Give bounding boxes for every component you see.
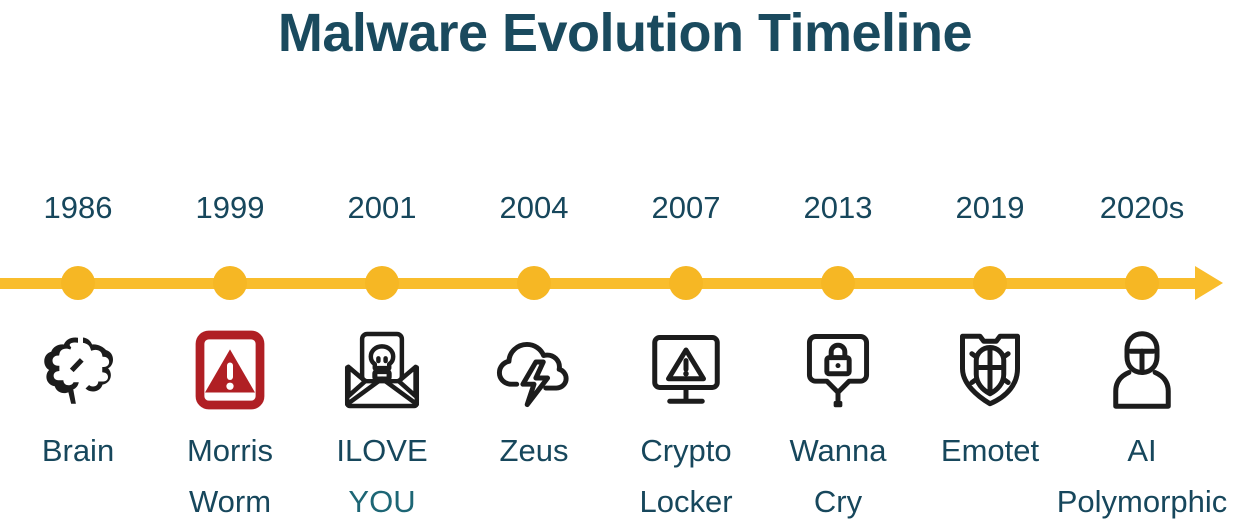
milestone-year: 2019 [914, 190, 1066, 226]
milestone-year: 2007 [610, 190, 762, 226]
timeline-milestone-morris-worm[interactable]: 1999 Morris Worm [154, 0, 306, 532]
milestone-label-line1: Brain [42, 433, 114, 468]
timeline-dot[interactable] [1125, 266, 1159, 300]
milestone-label-line1: Wanna [789, 433, 886, 468]
milestone-label: AI Polymorphic [1042, 425, 1242, 527]
milestone-label: Wanna Cry [750, 425, 926, 527]
timeline-milestone-wannacry[interactable]: 2013 Wanna Cry [762, 0, 914, 532]
milestone-year: 1999 [154, 190, 306, 226]
milestone-label-line2: Worm [142, 476, 318, 527]
timeline-dot[interactable] [821, 266, 855, 300]
milestone-label-line1: Crypto [640, 433, 731, 468]
timeline-dot[interactable] [517, 266, 551, 300]
hooded-person-icon [1100, 328, 1184, 412]
milestone-label: Zeus [446, 425, 622, 476]
timeline-milestone-cryptolocker[interactable]: 2007 Crypto Locker [610, 0, 762, 532]
malware-evolution-timeline-infographic: Malware Evolution Timeline 1986 Brain 19… [0, 0, 1250, 532]
milestone-label-line1: ILOVE [336, 433, 427, 468]
timeline-dot[interactable] [973, 266, 1007, 300]
milestone-label-line2: YOU [294, 476, 470, 527]
milestone-year: 1986 [2, 190, 154, 226]
milestone-label-line2: Locker [598, 476, 774, 527]
timeline-milestone-track: 1986 Brain 1999 [0, 0, 1250, 532]
milestone-label-line1: Morris [187, 433, 273, 468]
milestone-label-line1: AI [1127, 433, 1156, 468]
timeline-dot[interactable] [61, 266, 95, 300]
milestone-label: ILOVE YOU [294, 425, 470, 527]
timeline-dot[interactable] [365, 266, 399, 300]
shield-grid-icon [948, 328, 1032, 412]
brain-icon [36, 328, 120, 412]
timeline-milestone-zeus[interactable]: 2004 Zeus [458, 0, 610, 532]
timeline-milestone-brain[interactable]: 1986 Brain [2, 0, 154, 532]
timeline-milestone-iloveyou[interactable]: 2001 [306, 0, 458, 532]
timeline-dot[interactable] [213, 266, 247, 300]
milestone-year: 2020s [1066, 190, 1218, 226]
milestone-year: 2004 [458, 190, 610, 226]
milestone-label-line2: Cry [750, 476, 926, 527]
milestone-label-line1: Zeus [500, 433, 569, 468]
padlock-tag-icon [796, 328, 880, 412]
milestone-label: Crypto Locker [598, 425, 774, 527]
milestone-label-line2: Polymorphic [1042, 476, 1242, 527]
milestone-label-line1: Emotet [941, 433, 1039, 468]
timeline-dot[interactable] [669, 266, 703, 300]
warning-triangle-document-icon [188, 328, 272, 412]
cloud-lightning-icon [492, 328, 576, 412]
milestone-year: 2001 [306, 190, 458, 226]
envelope-skull-icon [340, 328, 424, 412]
timeline-milestone-ai-polymorphic[interactable]: 2020s AI Polymorphic [1066, 0, 1218, 532]
milestone-year: 2013 [762, 190, 914, 226]
milestone-label: Morris Worm [142, 425, 318, 527]
monitor-warning-icon [644, 328, 728, 412]
